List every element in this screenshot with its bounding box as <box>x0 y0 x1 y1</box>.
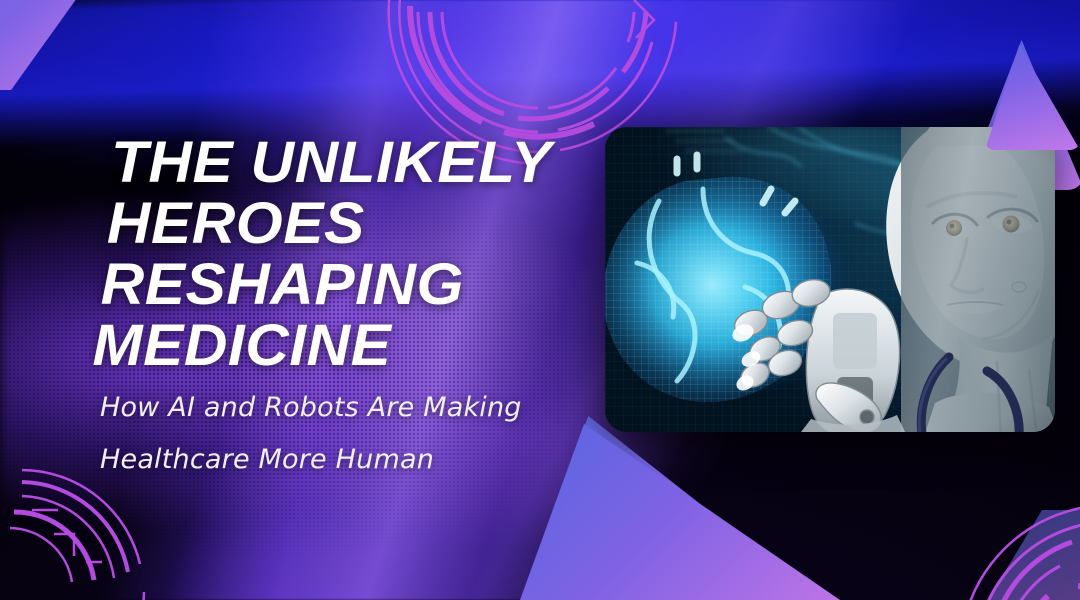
page-subtitle: How AI and Robots Are Making Healthcare … <box>100 382 620 486</box>
subtitle-line-2: Healthcare More Human <box>100 434 620 486</box>
title-line-1: THE UNLIKELY <box>111 132 625 193</box>
subtitle-line-1: How AI and Robots Are Making <box>100 382 620 434</box>
photo-vignette <box>605 127 1055 432</box>
poster-canvas: THE UNLIKELY HEROES RESHAPING MEDICINE H… <box>0 0 1080 600</box>
hero-image-panel <box>605 127 1055 432</box>
page-title: THE UNLIKELY HEROES RESHAPING MEDICINE <box>84 132 625 376</box>
wedge-bottom-right <box>970 510 1080 600</box>
text-block: THE UNLIKELY HEROES RESHAPING MEDICINE H… <box>0 0 600 600</box>
title-line-4: MEDICINE <box>92 315 624 376</box>
title-line-2: HEROES <box>107 193 625 254</box>
triangle-top-right-overlap <box>985 0 1080 150</box>
title-line-3: RESHAPING <box>101 254 625 315</box>
